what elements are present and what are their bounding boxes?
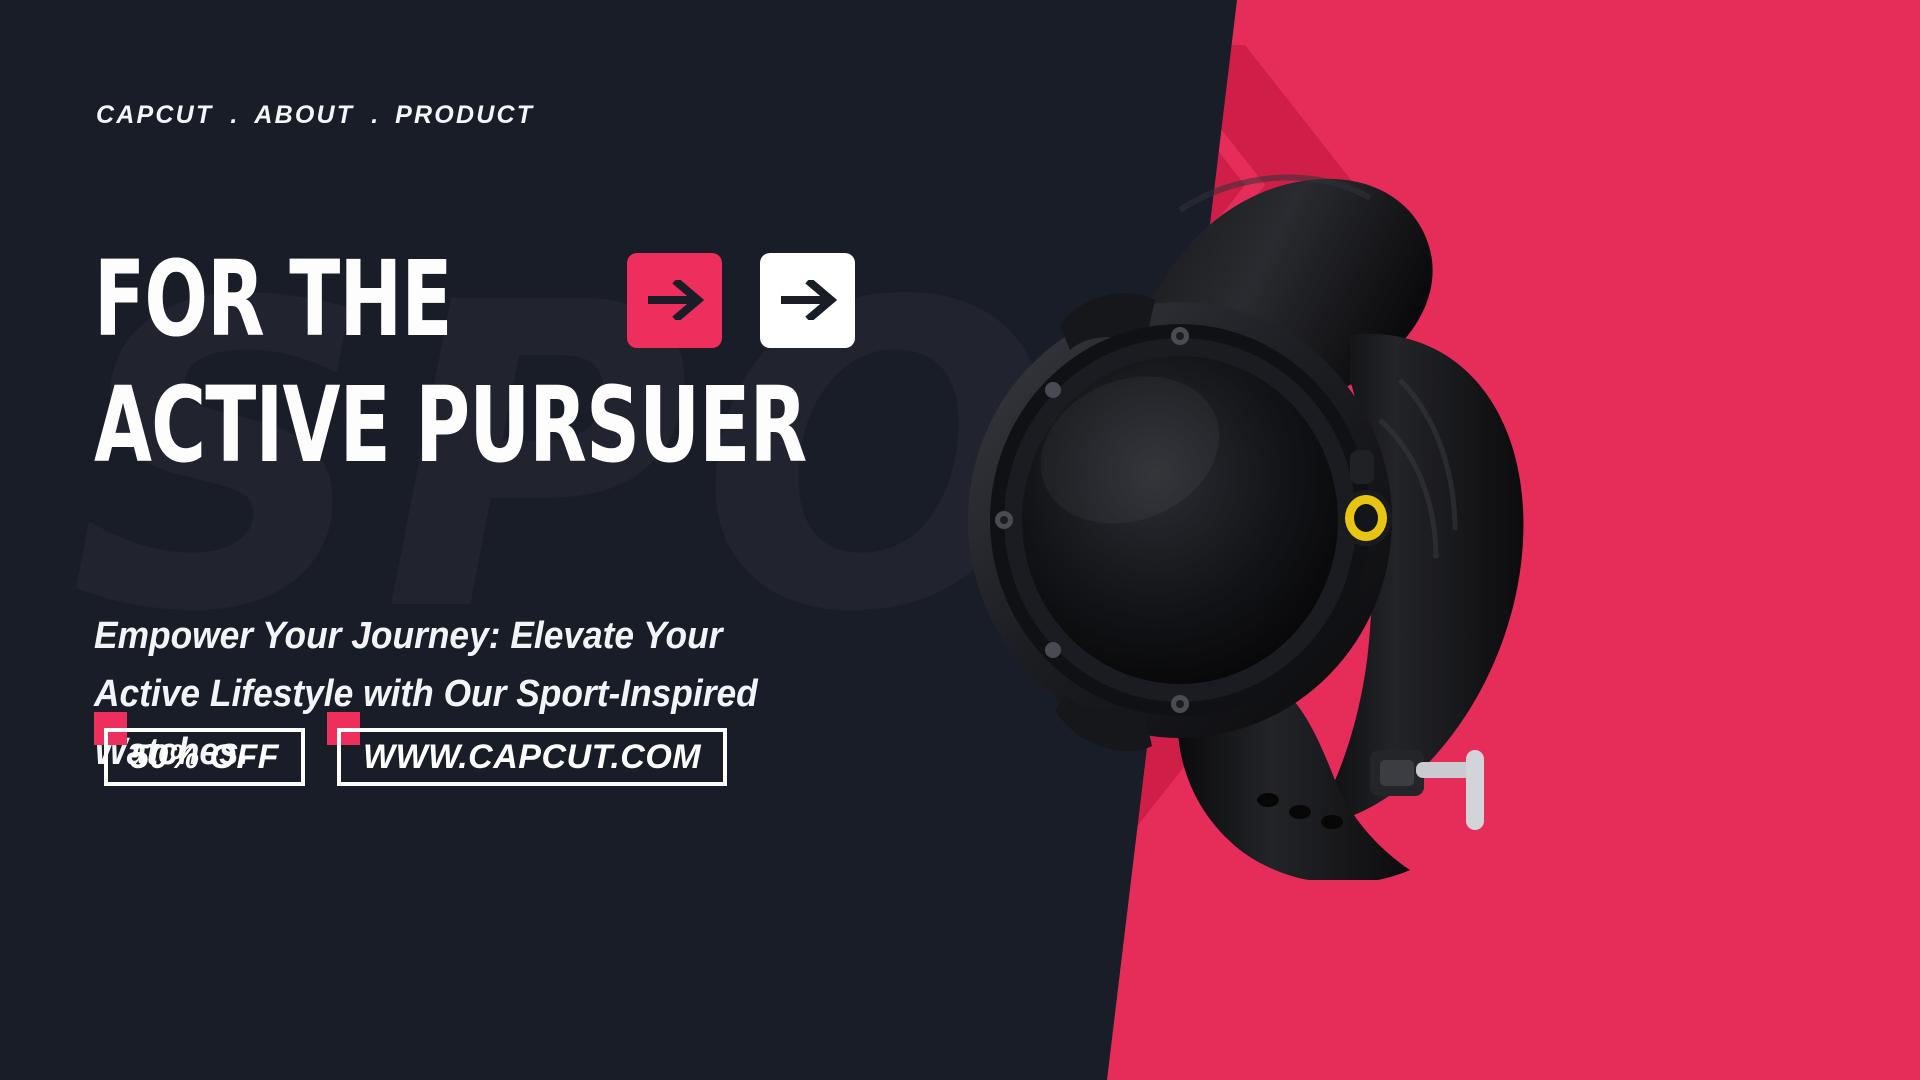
arrow-button-group xyxy=(627,253,855,348)
banner-canvas: SPO xyxy=(0,0,1920,1080)
arrow-right-icon xyxy=(646,280,704,320)
arrow-right-icon xyxy=(779,280,837,320)
website-label: WWW.CAPCUT.COM xyxy=(363,738,701,777)
hero-headline-block: FOR THE ACTIVE PURSUER xyxy=(94,250,985,476)
arrow-right-button-pink[interactable] xyxy=(627,253,722,348)
discount-label: 50% OFF xyxy=(130,738,279,777)
headline-line-2: ACTIVE PURSUER xyxy=(94,377,806,475)
nav-separator: . xyxy=(213,101,254,130)
nav-item-about[interactable]: ABOUT xyxy=(254,101,354,130)
arrow-right-button-white[interactable] xyxy=(760,253,855,348)
cta-row: 50% OFF WWW.CAPCUT.COM xyxy=(94,712,749,786)
top-navigation: CAPCUT . ABOUT . PRODUCT xyxy=(96,101,534,130)
nav-item-capcut[interactable]: CAPCUT xyxy=(96,101,213,130)
headline-line-1: FOR THE xyxy=(94,251,452,349)
nav-item-product[interactable]: PRODUCT xyxy=(395,101,534,130)
website-badge[interactable]: WWW.CAPCUT.COM xyxy=(327,712,727,786)
discount-badge[interactable]: 50% OFF xyxy=(94,712,305,786)
product-image-smartwatch xyxy=(880,150,1580,880)
nav-separator: . xyxy=(354,101,395,130)
watch-crown xyxy=(1340,490,1392,546)
